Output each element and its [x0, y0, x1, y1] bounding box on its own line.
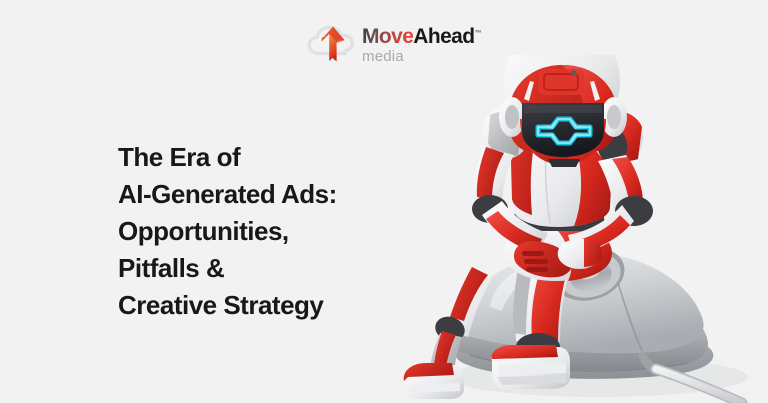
banner-root: MoveAhead™ media The Era of AI-Generated…: [0, 0, 768, 403]
logo-word-move: Move: [362, 25, 413, 48]
trademark-icon: ™: [474, 30, 481, 37]
headline-line-3: Opportunities,: [118, 213, 388, 250]
headline-line-2: AI-Generated Ads:: [118, 176, 388, 213]
headline-line-4: Pitfalls &: [118, 250, 388, 287]
logo-word-ahead: Ahead: [413, 25, 474, 48]
logo-line-primary: MoveAhead™: [362, 23, 481, 47]
headline-line-1: The Era of: [118, 139, 388, 176]
headline-line-5: Creative Strategy: [118, 287, 388, 324]
page-title: The Era of AI-Generated Ads: Opportuniti…: [118, 139, 388, 324]
robot-on-mouse-illustration: [398, 55, 768, 403]
cloud-arrow-icon: [306, 20, 360, 64]
